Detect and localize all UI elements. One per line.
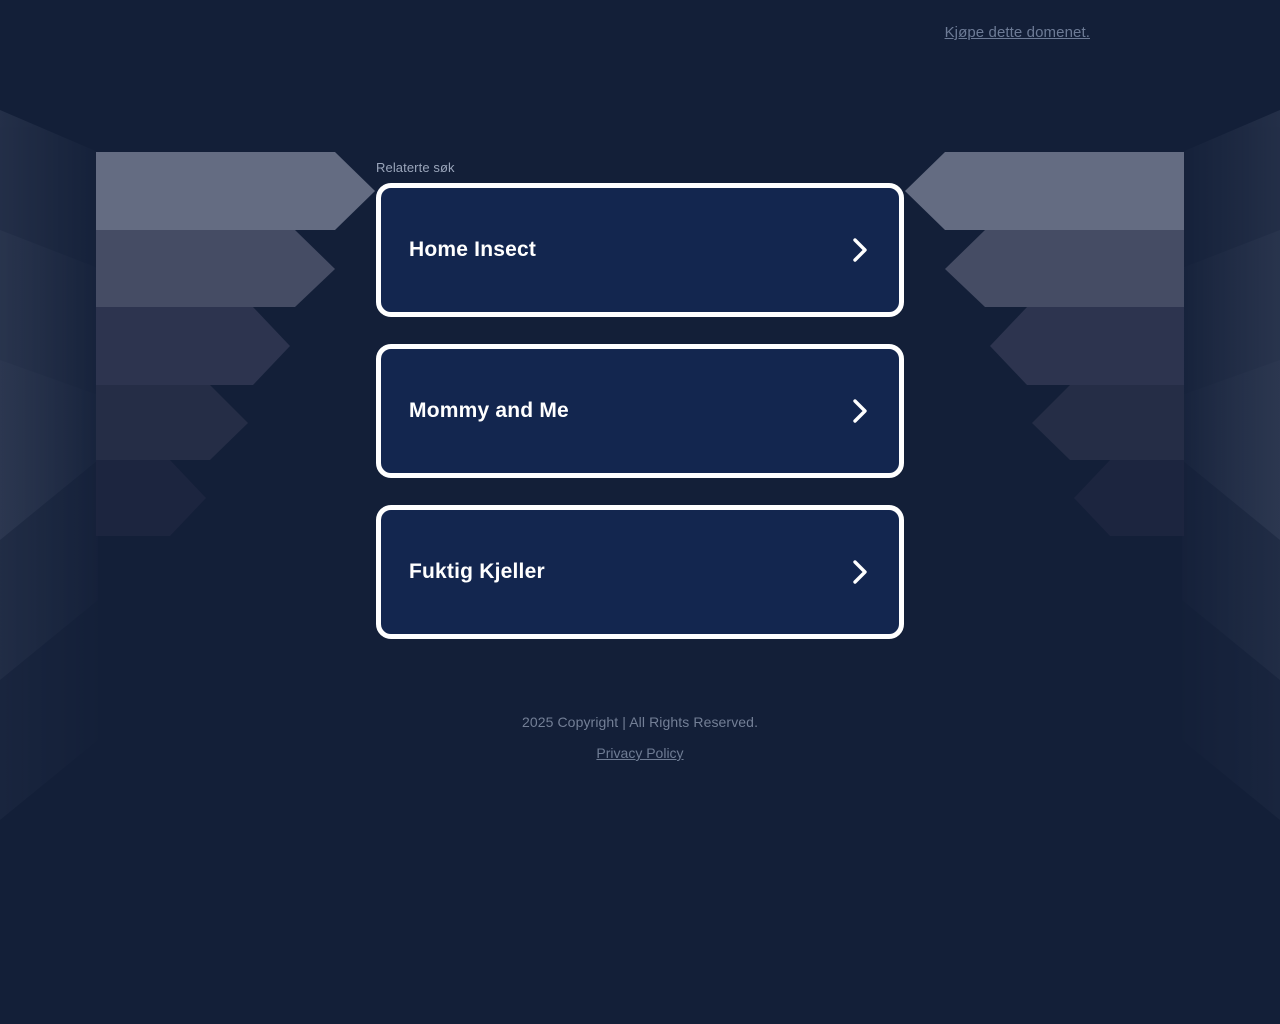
main-content: Relaterte søk Home Insect Mommy and Me F…	[376, 160, 904, 639]
background-chevron-band-left-4	[96, 385, 248, 460]
chevron-right-icon	[849, 236, 871, 264]
background-chevron-band-right-1	[905, 152, 1184, 230]
footer: 2025 Copyright | All Rights Reserved. Pr…	[0, 714, 1280, 763]
buy-domain-link[interactable]: Kjøpe dette domenet.	[945, 24, 1090, 41]
related-search-card-label: Fuktig Kjeller	[409, 559, 545, 584]
related-search-card-label: Home Insect	[409, 237, 536, 262]
background-chevron-band-left-3	[96, 307, 290, 385]
background-chevron-band-right-3	[990, 307, 1184, 385]
background-chevron-band-left-5	[96, 460, 206, 536]
background-chevron-band-right-2	[945, 230, 1184, 307]
related-search-card[interactable]: Home Insect	[376, 183, 904, 317]
related-search-card[interactable]: Mommy and Me	[376, 344, 904, 478]
related-search-card-label: Mommy and Me	[409, 398, 569, 423]
topbar: Kjøpe dette domenet.	[0, 0, 1280, 68]
chevron-right-icon	[849, 558, 871, 586]
background-chevron-band-left-2	[96, 230, 335, 307]
related-searches-label: Relaterte søk	[376, 160, 904, 175]
background-chevron-band-right-5	[1074, 460, 1184, 536]
background-chevron-band-right-4	[1032, 385, 1184, 460]
copyright-text: 2025 Copyright | All Rights Reserved.	[0, 714, 1280, 730]
privacy-policy-link[interactable]: Privacy Policy	[596, 745, 683, 761]
related-search-card-list: Home Insect Mommy and Me Fuktig Kjeller	[376, 183, 904, 639]
background-chevron-band-left-1	[96, 152, 375, 230]
chevron-right-icon	[849, 397, 871, 425]
related-search-card[interactable]: Fuktig Kjeller	[376, 505, 904, 639]
